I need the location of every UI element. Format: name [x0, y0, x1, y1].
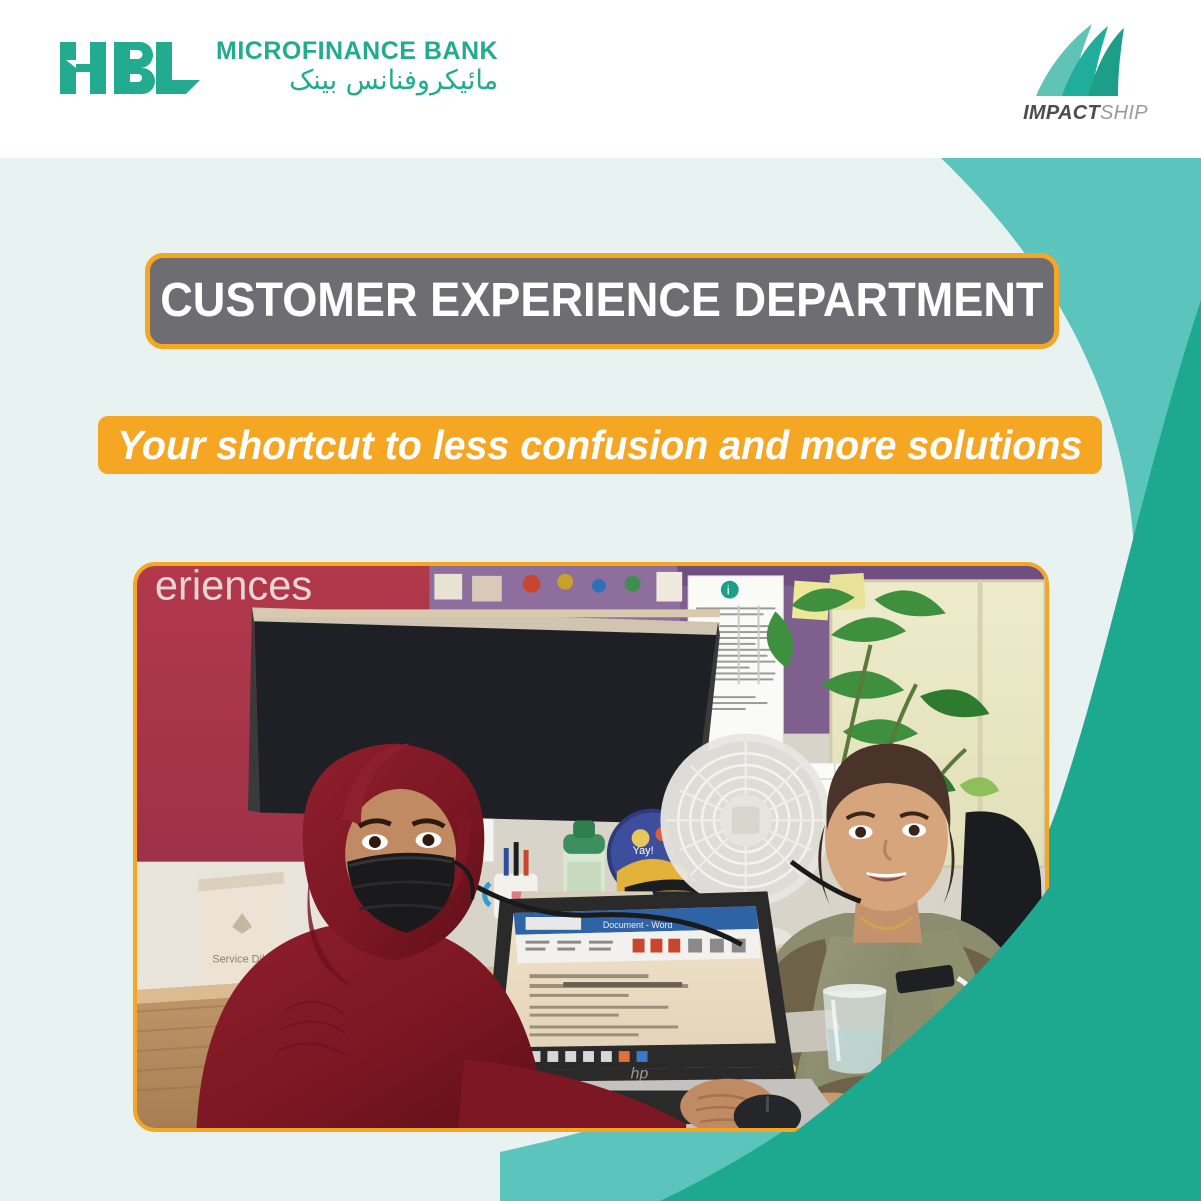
- impact-text: IMPACT: [1023, 102, 1100, 124]
- subtitle-banner: Your shortcut to less confusion and more…: [98, 416, 1102, 474]
- hbl-tagline-en: MICROFINANCE BANK: [216, 39, 498, 64]
- page-title: CUSTOMER EXPERIENCE DEPARTMENT: [160, 277, 1043, 325]
- svg-text:Document - Word: Document - Word: [603, 920, 673, 930]
- impactship-logo[interactable]: IMPACTSHIP: [1018, 22, 1153, 123]
- svg-text:hp: hp: [631, 1066, 649, 1083]
- poster-canvas: MICROFINANCE BANK مائیکروفنانس بینک IMPA…: [0, 0, 1201, 1201]
- photo-frame: eriences i: [133, 562, 1049, 1132]
- svg-text:eriences: eriences: [155, 566, 312, 608]
- impactship-sails-icon: [1022, 22, 1150, 100]
- header-bar: MICROFINANCE BANK مائیکروفنانس بینک IMPA…: [0, 0, 1201, 158]
- hbl-logo[interactable]: MICROFINANCE BANK مائیکروفنانس بینک: [60, 38, 498, 98]
- svg-text:Yay!: Yay!: [633, 845, 654, 857]
- office-photo-illustration: eriences i: [137, 566, 1045, 1128]
- hbl-wordmark-icon: [60, 38, 200, 98]
- office-photo: eriences i: [137, 566, 1045, 1128]
- hbl-tagline-ur: مائیکروفنانس بینک: [216, 66, 498, 96]
- title-banner: CUSTOMER EXPERIENCE DEPARTMENT: [145, 253, 1059, 349]
- hbl-logo-text: MICROFINANCE BANK مائیکروفنانس بینک: [216, 39, 498, 98]
- ship-text: SHIP: [1100, 102, 1148, 124]
- svg-text:i: i: [727, 583, 730, 598]
- subtitle-text: Your shortcut to less confusion and more…: [117, 425, 1082, 466]
- impactship-wordmark: IMPACTSHIP: [1018, 103, 1153, 123]
